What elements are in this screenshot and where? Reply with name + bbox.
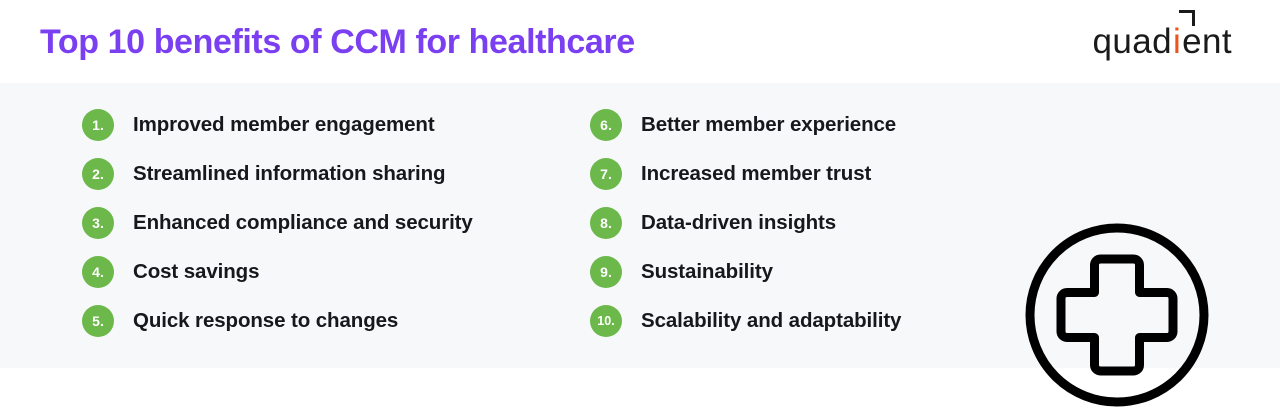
logo-bracket-icon [1179,10,1195,26]
list-item-label: Improved member engagement [133,113,435,137]
logo-i-letter: i [1173,22,1181,61]
list-item-label: Quick response to changes [133,309,398,333]
number-badge: 6. [590,109,622,141]
list-item: 9. Sustainability [590,256,901,288]
logo-text-after: ent [1182,22,1232,62]
number-badge: 10. [590,305,622,337]
number-badge: 7. [590,158,622,190]
number-badge: 1. [82,109,114,141]
right-column: 6. Better member experience 7. Increased… [590,109,901,337]
logo-text-before: quad [1092,22,1171,62]
number-badge: 8. [590,207,622,239]
benefits-panel: 1. Improved member engagement 2. Streaml… [0,83,1280,368]
list-item: 6. Better member experience [590,109,901,141]
list-item-label: Better member experience [641,113,896,137]
list-item: 3. Enhanced compliance and security [82,207,473,239]
list-item-label: Increased member trust [641,162,871,186]
list-item: 4. Cost savings [82,256,473,288]
list-item: 1. Improved member engagement [82,109,473,141]
number-badge: 5. [82,305,114,337]
list-item: 8. Data-driven insights [590,207,901,239]
list-item: 10. Scalability and adaptability [590,305,901,337]
number-badge: 9. [590,256,622,288]
number-badge: 3. [82,207,114,239]
list-item: 5. Quick response to changes [82,305,473,337]
logo-wordmark: quadient [1092,22,1232,62]
list-item-label: Cost savings [133,260,259,284]
list-item-label: Scalability and adaptability [641,309,901,333]
left-column: 1. Improved member engagement 2. Streaml… [82,109,473,337]
medical-cross-circle-svg [1022,220,1212,410]
page-title: Top 10 benefits of CCM for healthcare [40,21,635,63]
list-item-label: Streamlined information sharing [133,162,445,186]
list-item-label: Sustainability [641,260,773,284]
number-badge: 4. [82,256,114,288]
list-item: 2. Streamlined information sharing [82,158,473,190]
list-item-label: Enhanced compliance and security [133,211,473,235]
header-bar: Top 10 benefits of CCM for healthcare qu… [0,0,1280,83]
list-item: 7. Increased member trust [590,158,901,190]
number-badge: 2. [82,158,114,190]
quadient-logo: quadient [1092,22,1232,62]
logo-accent-i: i [1173,22,1181,62]
medical-cross-circle-icon [1022,220,1212,410]
list-item-label: Data-driven insights [641,211,836,235]
